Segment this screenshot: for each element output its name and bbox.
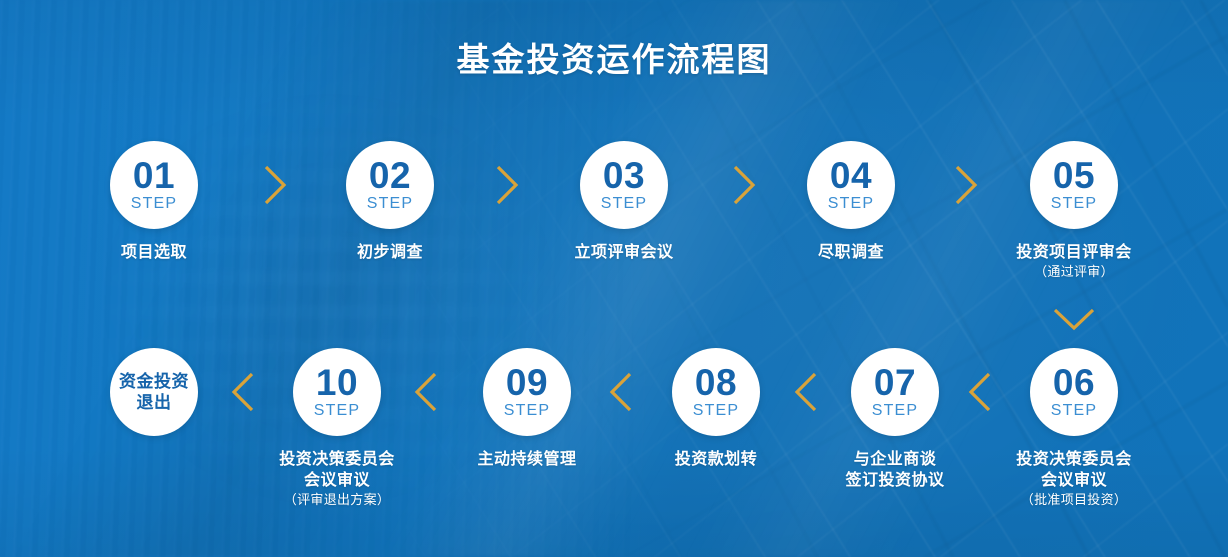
step-circle-02[interactable]: 02 STEP (346, 141, 434, 229)
step-word-10: STEP (314, 403, 361, 419)
step-number-09: 09 (506, 365, 548, 401)
step-label-02: 初步调查 (280, 242, 500, 263)
step-word-03: STEP (601, 196, 648, 212)
step-number-01: 01 (133, 158, 175, 194)
flow-step-03[interactable]: 03 STEP 立项评审会议 (514, 141, 734, 263)
flow-step-02[interactable]: 02 STEP 初步调查 (280, 141, 500, 263)
step-label-05: 投资项目评审会 (964, 242, 1184, 263)
flow-step-09[interactable]: 09 STEP 主动持续管理 (417, 348, 637, 470)
step-circle-07[interactable]: 07 STEP (851, 348, 939, 436)
step-number-06: 06 (1053, 365, 1095, 401)
step-label-04: 尽职调查 (741, 242, 961, 263)
flow-terminal-exit[interactable]: 资金投资 退出 (44, 348, 264, 436)
step-sublabel-10: （评审退出方案） (227, 492, 447, 509)
terminal-label-line1: 资金投资 (119, 371, 189, 392)
step-circle-06[interactable]: 06 STEP (1030, 348, 1118, 436)
flow-step-04[interactable]: 04 STEP 尽职调查 (741, 141, 961, 263)
flow-step-08[interactable]: 08 STEP 投资款划转 (606, 348, 826, 470)
step-sublabel-06: （批准项目投资） (964, 492, 1184, 509)
step-word-08: STEP (693, 403, 740, 419)
step-circle-01[interactable]: 01 STEP (110, 141, 198, 229)
step-sublabel-05: （通过评审） (964, 264, 1184, 281)
step-number-04: 04 (830, 158, 872, 194)
step-number-08: 08 (695, 365, 737, 401)
step-label-01: 项目选取 (44, 242, 264, 263)
step-word-06: STEP (1051, 403, 1098, 419)
step-circle-09[interactable]: 09 STEP (483, 348, 571, 436)
step-label-10: 投资决策委员会 会议审议 (227, 449, 447, 491)
step-circle-10[interactable]: 10 STEP (293, 348, 381, 436)
step-word-07: STEP (872, 403, 919, 419)
step-word-04: STEP (828, 196, 875, 212)
step-circle-08[interactable]: 08 STEP (672, 348, 760, 436)
connector-05-06-chevron-down-icon (1049, 303, 1099, 335)
flowchart-canvas: 基金投资运作流程图 01 STEP 项目选取 02 STEP 初步调查 03 S… (0, 0, 1228, 557)
step-number-07: 07 (874, 365, 916, 401)
step-circle-04[interactable]: 04 STEP (807, 141, 895, 229)
step-circle-05[interactable]: 05 STEP (1030, 141, 1118, 229)
step-number-03: 03 (603, 158, 645, 194)
terminal-circle-exit[interactable]: 资金投资 退出 (110, 348, 198, 436)
step-word-01: STEP (131, 196, 178, 212)
step-number-05: 05 (1053, 158, 1095, 194)
step-label-03: 立项评审会议 (514, 242, 734, 263)
step-word-05: STEP (1051, 196, 1098, 212)
terminal-label-line2: 退出 (137, 392, 172, 413)
step-label-08: 投资款划转 (606, 449, 826, 470)
flow-step-05[interactable]: 05 STEP 投资项目评审会 （通过评审） (964, 141, 1184, 281)
step-word-02: STEP (367, 196, 414, 212)
step-label-09: 主动持续管理 (417, 449, 637, 470)
flow-step-01[interactable]: 01 STEP 项目选取 (44, 141, 264, 263)
page-title: 基金投资运作流程图 (0, 40, 1228, 80)
step-number-02: 02 (369, 158, 411, 194)
step-number-10: 10 (316, 365, 358, 401)
step-circle-03[interactable]: 03 STEP (580, 141, 668, 229)
step-word-09: STEP (504, 403, 551, 419)
